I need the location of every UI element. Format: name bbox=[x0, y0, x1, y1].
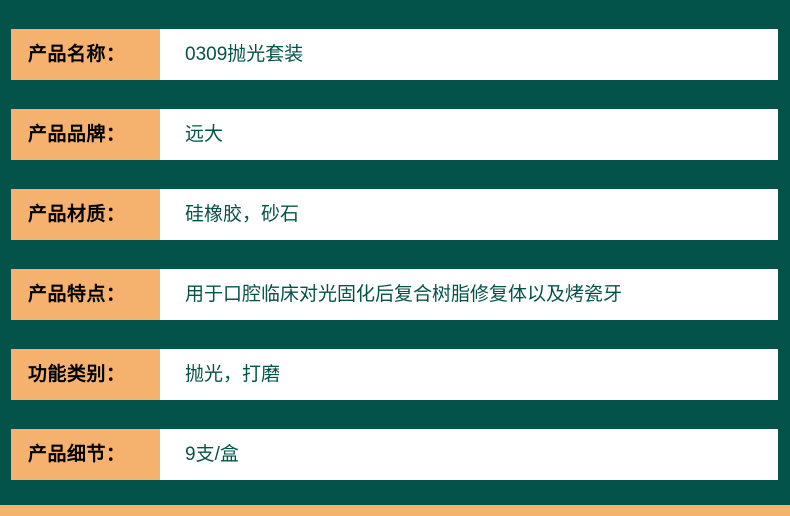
spec-value-function-category: 抛光，打磨 bbox=[160, 349, 778, 400]
spec-row-function-category: 功能类别： 抛光，打磨 bbox=[11, 349, 778, 400]
spec-row-product-details: 产品细节： 9支/盒 bbox=[11, 429, 778, 480]
spec-label-product-material: 产品材质： bbox=[11, 189, 160, 240]
spec-value-product-material: 硅橡胶，砂石 bbox=[160, 189, 778, 240]
spec-value-product-details: 9支/盒 bbox=[160, 429, 778, 480]
spec-row-product-material: 产品材质： 硅橡胶，砂石 bbox=[11, 189, 778, 240]
spec-table: 产品名称： 0309抛光套装 产品品牌： 远大 产品材质： 硅橡胶，砂石 产品特… bbox=[0, 0, 790, 509]
spec-value-product-features: 用于口腔临床对光固化后复合树脂修复体以及烤瓷牙 bbox=[160, 269, 778, 320]
spec-label-product-features: 产品特点： bbox=[11, 269, 160, 320]
spec-label-product-details: 产品细节： bbox=[11, 429, 160, 480]
spec-label-product-brand: 产品品牌： bbox=[11, 109, 160, 160]
spec-row-product-features: 产品特点： 用于口腔临床对光固化后复合树脂修复体以及烤瓷牙 bbox=[11, 269, 778, 320]
spec-value-product-brand: 远大 bbox=[160, 109, 778, 160]
spec-value-product-name: 0309抛光套装 bbox=[160, 29, 778, 80]
spec-label-product-name: 产品名称： bbox=[11, 29, 160, 80]
bottom-accent-bar bbox=[0, 505, 790, 516]
spec-row-product-name: 产品名称： 0309抛光套装 bbox=[11, 29, 778, 80]
spec-label-function-category: 功能类别： bbox=[11, 349, 160, 400]
spec-row-product-brand: 产品品牌： 远大 bbox=[11, 109, 778, 160]
product-spec-sheet: 产品名称： 0309抛光套装 产品品牌： 远大 产品材质： 硅橡胶，砂石 产品特… bbox=[0, 0, 790, 516]
